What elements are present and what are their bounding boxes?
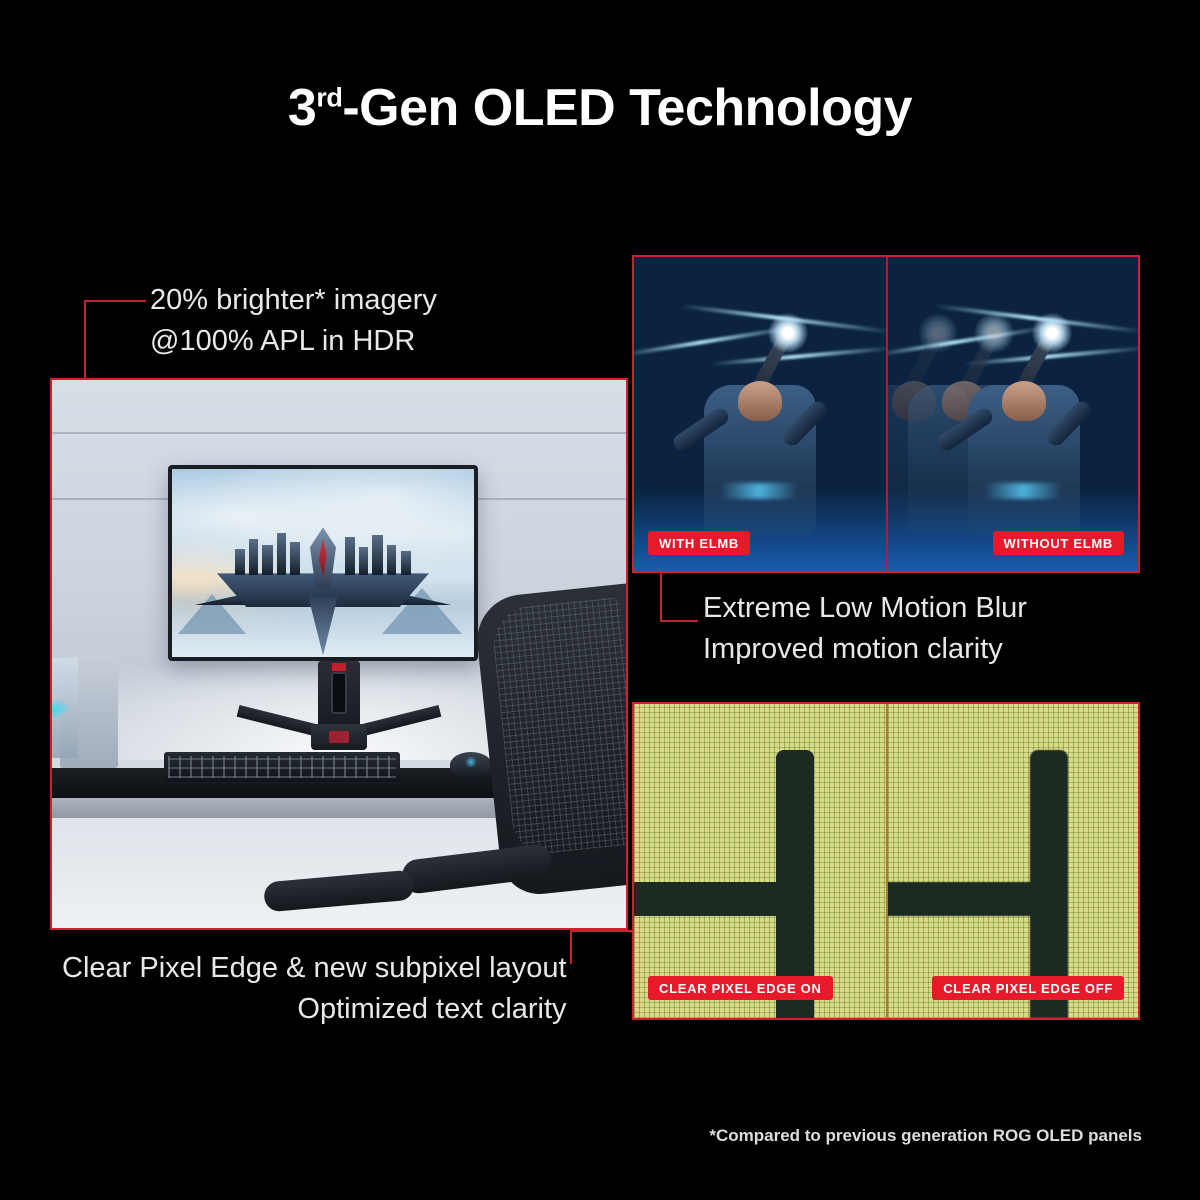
footnote: *Compared to previous generation ROG OLE… — [0, 1126, 1142, 1146]
city-tower — [262, 545, 273, 575]
callout-cpe-line2: Optimized text clarity — [62, 989, 567, 1030]
monitor-bezel — [168, 465, 478, 661]
city-tower — [290, 542, 300, 575]
title-ordinal: rd — [316, 83, 342, 113]
elmb-comparison-split: WITH ELMB — [634, 257, 1138, 571]
badge-clear-pixel-edge-on: CLEAR PIXEL EDGE ON — [648, 976, 833, 1000]
city-tower — [235, 549, 245, 575]
elmb-comparison: WITH ELMB — [632, 255, 1140, 573]
connector-cpe-horizontal — [570, 930, 632, 932]
cpe-comparison-split: CLEAR PIXEL EDGE ON CLEAR PIXEL EDGE OFF — [634, 704, 1138, 1018]
clear-pixel-edge-comparison: CLEAR PIXEL EDGE ON CLEAR PIXEL EDGE OFF — [632, 702, 1140, 1020]
soldier-head — [738, 381, 782, 421]
muzzle-flash — [974, 313, 1014, 353]
badge-clear-pixel-edge-off: CLEAR PIXEL EDGE OFF — [932, 976, 1124, 1000]
city-tower — [277, 533, 286, 575]
connector-elmb-vertical — [660, 573, 662, 622]
badge-without-elmb: WITHOUT ELMB — [993, 531, 1125, 555]
chair-mesh — [490, 596, 628, 856]
city-tower — [401, 551, 411, 575]
cpe-off-half: CLEAR PIXEL EDGE OFF — [886, 704, 1138, 1018]
pc-tower — [60, 652, 118, 768]
subpixel-grid — [888, 704, 1138, 1018]
soldier-head — [1002, 381, 1046, 421]
connector-elmb-horizontal — [660, 620, 698, 622]
city-tower — [372, 535, 383, 575]
city-tower — [359, 547, 368, 575]
muzzle-flash — [768, 313, 808, 353]
desk-setup-photo — [50, 378, 628, 930]
keyboard-keys — [168, 756, 396, 778]
stand-hub — [311, 724, 367, 750]
connector-brightness-vertical — [84, 300, 86, 380]
city-tower — [249, 539, 258, 575]
monitor-stand-window — [331, 672, 347, 714]
monitor-screen — [172, 469, 474, 657]
muzzle-flash — [918, 313, 958, 353]
city-tower — [387, 545, 396, 575]
elmb-off-half: WITHOUT ELMB — [886, 257, 1138, 571]
callout-cpe-line1: Clear Pixel Edge & new subpixel layout — [62, 948, 567, 989]
callout-brightness-line2: @100% APL in HDR — [150, 321, 437, 362]
city-tower — [345, 537, 355, 575]
callout-clear-pixel-edge: Clear Pixel Edge & new subpixel layout O… — [62, 948, 567, 1030]
callout-brightness: 20% brighter* imagery @100% APL in HDR — [150, 280, 437, 362]
page-title: 3rd-Gen OLED Technology — [0, 78, 1200, 138]
connector-cpe-vertical — [570, 930, 572, 964]
glyph-crossbar — [634, 882, 810, 916]
muzzle-flash — [1032, 313, 1072, 353]
glyph-crossbar — [886, 882, 1064, 916]
callout-elmb: Extreme Low Motion Blur Improved motion … — [703, 588, 1027, 670]
floating-city — [217, 525, 429, 629]
cpe-on-half: CLEAR PIXEL EDGE ON — [634, 704, 886, 1018]
callout-elmb-line2: Improved motion clarity — [703, 629, 1027, 670]
subpixel-grid — [634, 704, 886, 1018]
monitor-stand-accent — [332, 663, 346, 671]
connector-brightness-horizontal — [84, 300, 146, 302]
badge-with-elmb: WITH ELMB — [648, 531, 750, 555]
callout-brightness-line1: 20% brighter* imagery — [150, 280, 437, 321]
title-rest: -Gen OLED Technology — [342, 79, 912, 137]
infographic-root: 3rd-Gen OLED Technology 20% brighter* im… — [0, 0, 1200, 1200]
keyboard — [164, 752, 400, 782]
callout-elmb-line1: Extreme Low Motion Blur — [703, 588, 1027, 629]
elmb-on-half: WITH ELMB — [634, 257, 886, 571]
wall-line — [52, 432, 626, 434]
title-lead: 3 — [288, 79, 316, 137]
mouse — [450, 752, 492, 778]
